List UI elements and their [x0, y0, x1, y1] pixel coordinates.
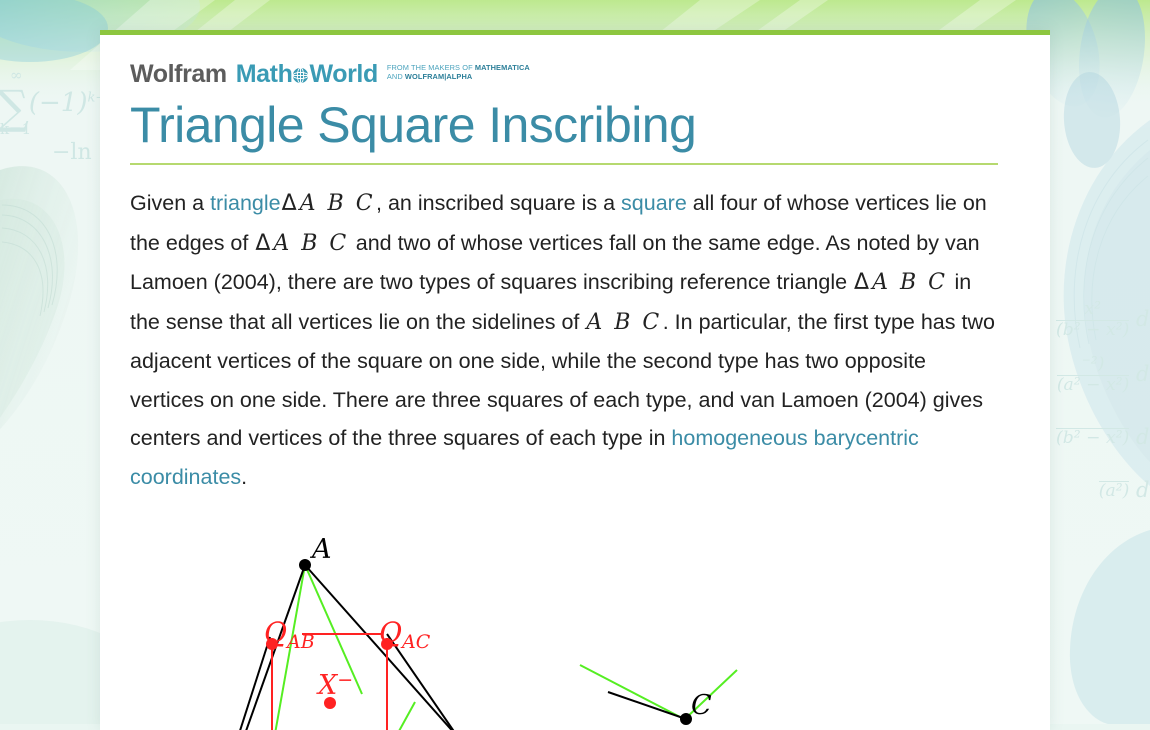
fraction: x² (b² − x²): [1056, 300, 1129, 341]
logo-tagline: From the makers of Mathematica and Wolfr…: [387, 63, 530, 82]
title-divider: [130, 163, 998, 165]
vertex-label-a: A: [309, 534, 332, 565]
logo-mathworld-text: Math World: [236, 61, 378, 87]
figure-svg: A C QAB QAC X−: [130, 522, 1020, 730]
logo-world-text: World: [309, 61, 377, 87]
fraction: (a²): [1099, 481, 1130, 502]
differential: d x: [1136, 478, 1150, 502]
background-integral-1: x² (b² − x²) d x: [1056, 300, 1150, 341]
math-triangle-abc-3: ΔA B C: [853, 270, 948, 295]
tagline-line-1: From the makers of Mathematica: [387, 63, 530, 72]
green-construction-lines: [270, 565, 737, 730]
link-square[interactable]: square: [621, 191, 687, 215]
background-integral-2: ⁻²) (a² − x²) d x: [1057, 355, 1150, 396]
background-formula-left: ∑∞k=1(−1)k−1 −ln: [0, 80, 115, 165]
page-title: Triangle Square Inscribing: [130, 95, 1020, 155]
differential: d x: [1136, 425, 1150, 449]
tagline-line-2: and Wolfram|Alpha: [387, 72, 472, 81]
fraction: (b² − x²): [1056, 428, 1129, 449]
sum-upper-limit: ∞: [10, 66, 23, 84]
article-body: Given a triangleΔA B C, an inscribed squ…: [130, 184, 998, 496]
sum-lower-limit: k=1: [0, 120, 31, 138]
label-q-ac: QAC: [379, 616, 431, 653]
text-run: Given a: [130, 191, 210, 215]
logo-wolfram-text: Wolfram: [130, 61, 227, 87]
content-card: Wolfram Math World From the makers: [100, 30, 1050, 730]
background-integral-3: (b² − x²) d x: [1056, 425, 1150, 449]
text-run: , an inscribed square is a: [376, 191, 621, 215]
link-triangle[interactable]: triangle: [210, 191, 281, 215]
fraction: ⁻²) (a² − x²): [1057, 355, 1130, 396]
background-integral-4: (a²) d x: [1099, 478, 1150, 502]
math-triangle-abc-1: ΔA B C: [281, 191, 376, 216]
site-logo[interactable]: Wolfram Math World From the makers: [130, 61, 1020, 87]
vertex-label-c: C: [691, 690, 712, 721]
paragraph-1: Given a triangleΔA B C, an inscribed squ…: [130, 184, 998, 496]
globe-icon: [292, 63, 309, 80]
math-triangle-abc-2: ΔA B C: [254, 231, 349, 256]
logo-math-text: Math: [236, 61, 293, 87]
text-run: .: [241, 465, 247, 489]
label-x-minus: X−: [316, 669, 353, 701]
differential: d x: [1136, 307, 1150, 331]
triangle-square-inscribing-figure: A C QAB QAC X−: [130, 522, 1020, 730]
vertex-point-a: [299, 559, 311, 571]
formula-body: (−1): [29, 88, 88, 118]
math-abc-4: A B C: [585, 310, 662, 335]
label-q-ab: QAB: [264, 616, 315, 653]
differential: d x: [1136, 362, 1150, 386]
